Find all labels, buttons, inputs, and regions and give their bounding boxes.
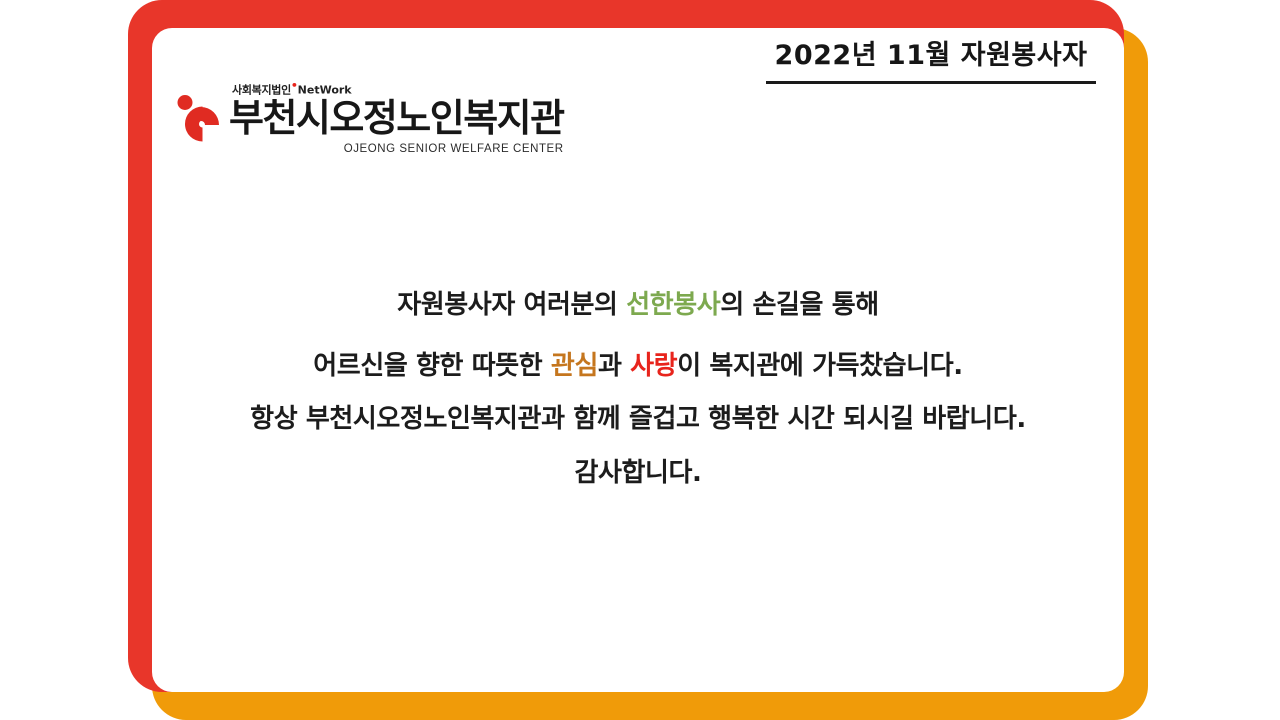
logo-tagline-star-icon: • [291, 79, 298, 92]
message-body: 자원봉사자 여러분의 선한봉사의 손길을 통해 어르신을 향한 따뜻한 관심과 … [152, 290, 1124, 489]
logo-tagline-english: NetWork [298, 84, 352, 97]
message-line-1-before: 자원봉사자 여러분의 [397, 290, 626, 320]
content-card: 2022년 11월 자원봉사자 사회복지법인•NetWork 부천시오정노인복지… [152, 28, 1124, 692]
message-line-4: 감사합니다. [152, 458, 1124, 489]
logo-name-korean: 부천시오정노인복지관 [229, 98, 564, 139]
message-line-3: 항상 부천시오정노인복지관과 함께 즐겁고 행복한 시간 되시길 바랍니다. [152, 404, 1124, 435]
header-title-block: 2022년 11월 자원봉사자 [766, 40, 1096, 84]
logo-text-block: 사회복지법인•NetWork 부천시오정노인복지관 OJEONG SENIOR … [229, 80, 564, 155]
message-line-1-after: 의 손길을 통해 [720, 290, 878, 320]
message-line-2-before: 어르신을 향한 따뜻한 [313, 351, 551, 381]
message-line-2: 어르신을 향한 따뜻한 관심과 사랑이 복지관에 가득찼습니다. [152, 351, 1124, 382]
logo-name-english: OJEONG SENIOR WELFARE CENTER [344, 144, 564, 156]
message-line-2-after: 이 복지관에 가득찼습니다. [677, 351, 963, 381]
logo-mark-icon [174, 94, 220, 142]
message-line-2-middle: 과 [598, 351, 630, 381]
title-underline [766, 81, 1096, 84]
message-line-2-highlight-2: 사랑 [630, 351, 677, 381]
logo-tagline: 사회복지법인•NetWork [232, 80, 352, 96]
logo-tagline-korean: 사회복지법인 [232, 84, 291, 97]
organization-logo: 사회복지법인•NetWork 부천시오정노인복지관 OJEONG SENIOR … [174, 80, 564, 155]
page-title: 2022년 11월 자원봉사자 [766, 40, 1096, 72]
message-line-1: 자원봉사자 여러분의 선한봉사의 손길을 통해 [152, 290, 1124, 321]
message-line-1-highlight: 선한봉사 [626, 290, 720, 320]
message-line-2-highlight-1: 관심 [551, 351, 598, 381]
slide-page: 2022년 11월 자원봉사자 사회복지법인•NetWork 부천시오정노인복지… [0, 0, 1280, 720]
